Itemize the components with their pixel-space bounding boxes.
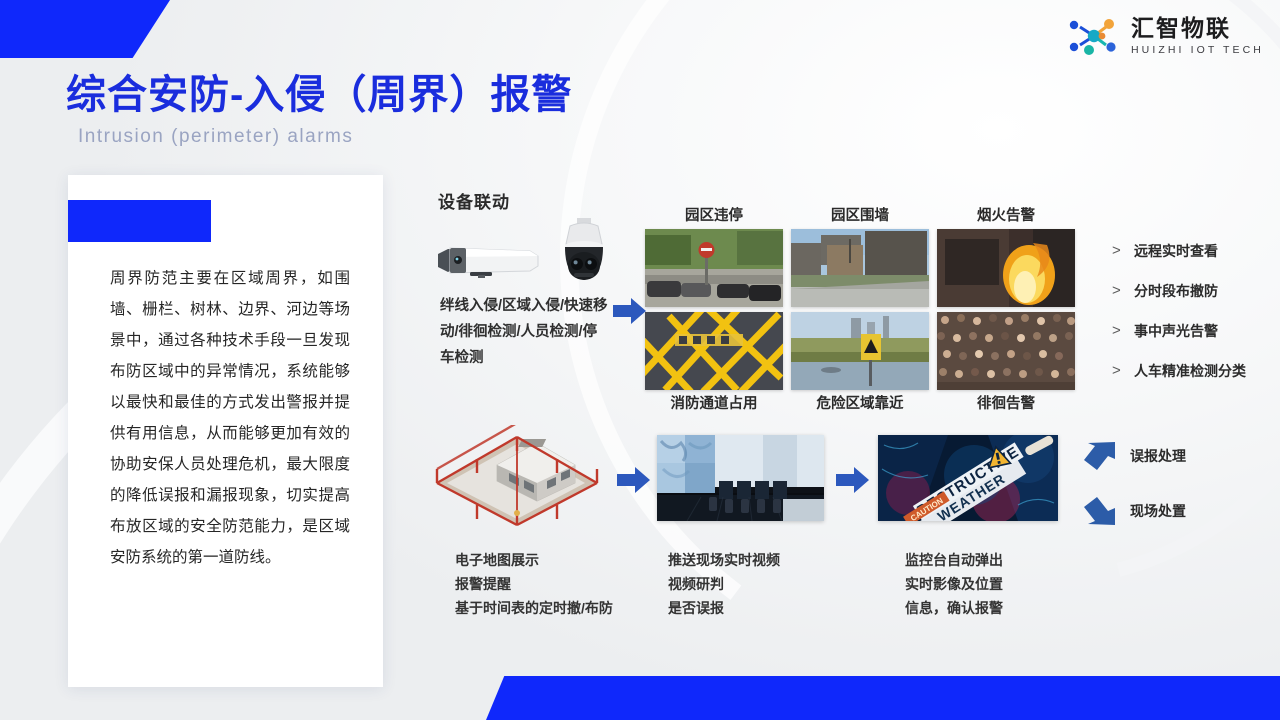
scene-grid: 园区违停	[645, 207, 1075, 407]
flow-caption-line: 信息，确认报警	[905, 596, 1003, 620]
hazard-zone-photo	[791, 312, 929, 390]
flow-caption-2: 监控台自动弹出 实时影像及位置 信息，确认报警	[905, 548, 1003, 620]
flow-caption-line: 推送现场实时视频	[668, 548, 780, 572]
arrow-up-right-icon	[1082, 440, 1118, 472]
chevron-right-icon: >	[1112, 242, 1134, 259]
alert-popup-destructive-weather[interactable]: DESTRUCTIVE WEATHER CAUTION	[878, 435, 1058, 521]
bullet-label: 事中声光告警	[1134, 321, 1218, 341]
response-flow-row: DESTRUCTIVE WEATHER CAUTION	[425, 425, 1085, 545]
bullet-item-0[interactable]: > 远程实时查看	[1112, 235, 1280, 266]
scene-cell-0[interactable]: 园区违停	[645, 207, 783, 307]
arrow-right-icon-2	[617, 465, 651, 495]
outcome-item-1[interactable]: 现场处置	[1082, 495, 1186, 527]
flow-caption-line: 监控台自动弹出	[905, 548, 1003, 572]
arrow-right-icon-3	[836, 465, 870, 495]
scene-cell-1[interactable]: 园区围墙	[791, 207, 929, 307]
outcome-item-0[interactable]: 误报处理	[1082, 440, 1186, 472]
device-linkage-caption: 绊线入侵/区域入侵/快速移动/徘徊检测/人员检测/停车检测	[440, 293, 608, 371]
capability-bullet-list: > 远程实时查看 > 分时段布撤防 > 事中声光告警 > 人车精准检测分类	[1112, 235, 1280, 395]
camera-illustrations	[428, 214, 608, 299]
parking-violation-photo	[645, 229, 783, 307]
flow-caption-line: 是否误报	[668, 596, 780, 620]
bullet-item-1[interactable]: > 分时段布撤防	[1112, 275, 1280, 306]
flow-caption-line: 电子地图展示	[455, 548, 613, 572]
bullet-item-2[interactable]: > 事中声光告警	[1112, 315, 1280, 346]
emap-3d-building[interactable]	[425, 425, 610, 530]
flow-caption-line: 基于时间表的定时撤/布防	[455, 596, 613, 620]
chevron-right-icon: >	[1112, 322, 1134, 339]
bullet-camera-icon	[434, 244, 552, 278]
scene-cell-label: 消防通道占用	[645, 395, 783, 413]
bullet-label: 远程实时查看	[1134, 241, 1218, 261]
flow-caption-line: 视频研判	[668, 572, 780, 596]
diagram-section-title: 设备联动	[438, 188, 510, 213]
flow-caption-line: 报警提醒	[455, 572, 613, 596]
fire-lane-photo	[645, 312, 783, 390]
scene-cell-3[interactable]: 消防通道占用	[645, 308, 783, 413]
outcome-label: 现场处置	[1130, 501, 1186, 521]
bullet-item-3[interactable]: > 人车精准检测分类	[1112, 355, 1280, 386]
scene-cell-label: 烟火告警	[937, 207, 1075, 225]
scene-cell-5[interactable]: 徘徊告警	[937, 308, 1075, 413]
scene-cell-label: 徘徊告警	[937, 395, 1075, 413]
scene-cell-2[interactable]: 烟火告警	[937, 207, 1075, 307]
flow-caption-1: 推送现场实时视频 视频研判 是否误报	[668, 548, 780, 620]
bullet-label: 分时段布撤防	[1134, 281, 1218, 301]
arrow-right-icon-1	[613, 296, 647, 326]
outcome-label: 误报处理	[1130, 446, 1186, 466]
arrow-down-right-icon	[1082, 495, 1118, 527]
ptz-dome-camera-icon	[550, 218, 618, 302]
control-room-video-wall[interactable]	[657, 435, 824, 521]
chevron-right-icon: >	[1112, 282, 1134, 299]
flow-caption-line: 实时影像及位置	[905, 572, 1003, 596]
scene-cell-label: 危险区域靠近	[791, 395, 929, 413]
crowd-loitering-photo	[937, 312, 1075, 390]
flow-caption-0: 电子地图展示 报警提醒 基于时间表的定时撤/布防	[455, 548, 613, 620]
perimeter-wall-photo	[791, 229, 929, 307]
fire-smoke-photo	[937, 229, 1075, 307]
slide: 汇智物联 HUIZHI IOT TECH 综合安防-入侵（周界）报警 Intru…	[0, 0, 1280, 720]
scene-cell-label: 园区违停	[645, 207, 783, 225]
bullet-label: 人车精准检测分类	[1134, 361, 1246, 381]
chevron-right-icon: >	[1112, 362, 1134, 379]
scene-cell-label: 园区围墙	[791, 207, 929, 225]
scene-cell-4[interactable]: 危险区域靠近	[791, 308, 929, 413]
diagram-area: 设备联动	[0, 0, 1280, 720]
